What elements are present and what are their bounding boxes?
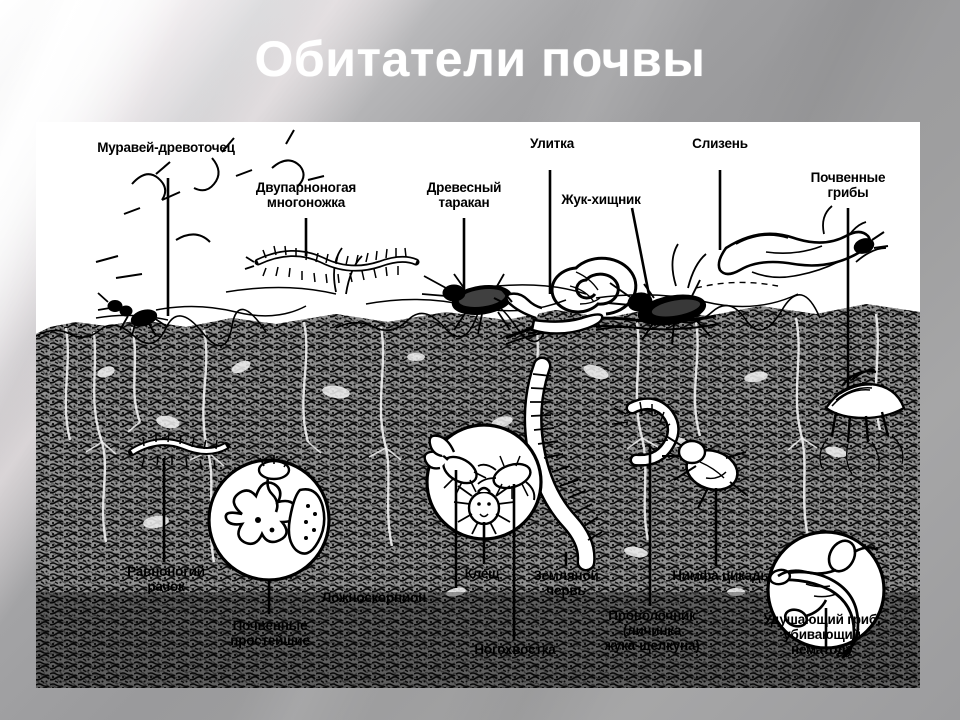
label-pseudoscorpion: Ложноскорпион bbox=[282, 590, 466, 605]
label-nematode-fungus: Удушающий гриб, убивающий нематоду bbox=[726, 612, 918, 657]
slide-canvas: Обитатели почвы bbox=[0, 0, 960, 720]
millipede-drawing bbox=[245, 246, 416, 283]
label-earthworm: Земляной червь bbox=[496, 568, 636, 598]
label-wireworm: Проволочник (личинка жука-щелкуна) bbox=[570, 608, 734, 653]
label-slug: Слизень bbox=[650, 136, 790, 151]
mites-inset-circle bbox=[425, 425, 541, 539]
label-soil-fungi: Почвенные грибы bbox=[778, 170, 918, 200]
label-snail: Улитка bbox=[482, 136, 622, 151]
figure-panel: Муравей-древоточец Двупарноногая многоно… bbox=[36, 122, 920, 688]
label-cicada-nymph: Нимфа цикады bbox=[644, 568, 800, 583]
label-predatory-beetle: Жук-хищник bbox=[522, 192, 680, 207]
label-wood-cockroach: Древесный таракан bbox=[386, 180, 542, 210]
label-carpenter-ant: Муравей-древоточец bbox=[36, 140, 296, 155]
label-springtail: Ногохвостка bbox=[440, 642, 590, 657]
page-title: Обитатели почвы bbox=[0, 30, 960, 88]
label-soil-protozoa: Почвенные простейшие bbox=[188, 618, 352, 648]
label-millipede: Двупарноногая многоножка bbox=[216, 180, 396, 210]
label-isopod: Равноногий рачок bbox=[88, 564, 244, 594]
